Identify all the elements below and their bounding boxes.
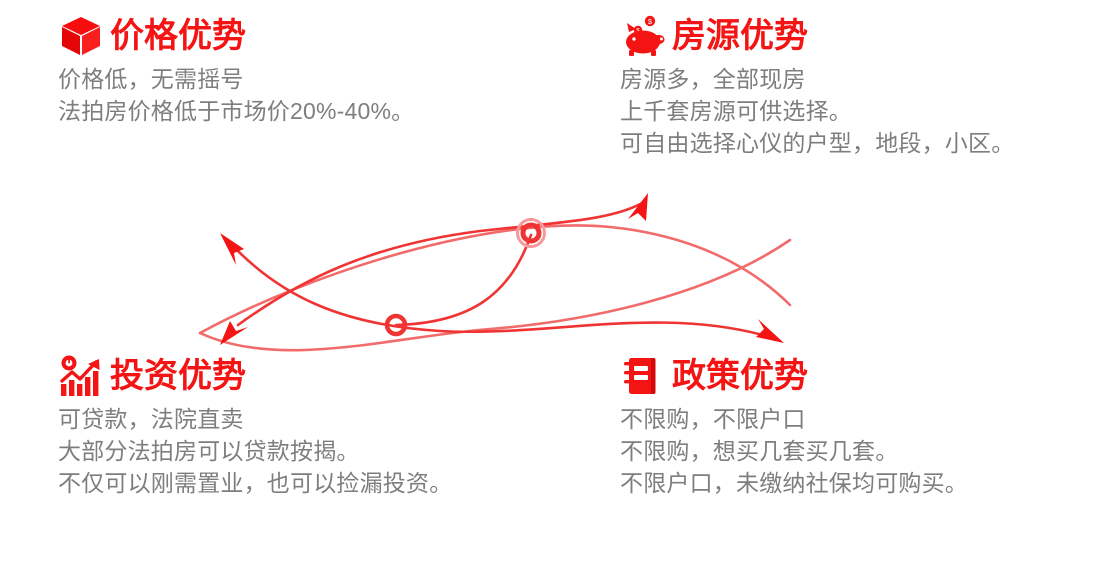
crossing-arrows-graphic xyxy=(190,185,810,360)
infographic-page: 价格优势 价格低，无需摇号 法拍房价格低于市场价20%-40%。 $ $ 房源优… xyxy=(0,0,1099,564)
arrowhead-down-right xyxy=(756,319,784,343)
feature-line: 法拍房价格低于市场价20%-40%。 xyxy=(58,95,414,127)
piggy-bank-icon: $ $ xyxy=(620,14,666,58)
feature-header-policy: 政策优势 xyxy=(620,353,968,399)
upper-arc-path xyxy=(200,225,790,333)
feature-header-price: 价格优势 xyxy=(58,13,414,59)
lower-arc-path xyxy=(200,240,790,350)
growth-chart-icon xyxy=(58,354,104,398)
feature-line: 不仅可以刚需置业，也可以捡漏投资。 xyxy=(58,467,452,499)
feature-line: 房源多，全部现房 xyxy=(620,63,1014,95)
node-circle-outer-ring xyxy=(518,220,545,247)
feature-line: 大部分法拍房可以贷款按揭。 xyxy=(58,435,452,467)
feature-title-price: 价格优势 xyxy=(110,17,246,55)
feature-line: 不限购，不限户口 xyxy=(620,403,968,435)
feature-header-listing: $ $ 房源优势 xyxy=(620,13,1014,59)
feature-line: 价格低，无需摇号 xyxy=(58,63,414,95)
svg-text:$: $ xyxy=(648,19,652,26)
cube-icon xyxy=(58,14,104,58)
feature-block-invest: 投资优势 可贷款，法院直卖 大部分法拍房可以贷款按揭。 不仅可以刚需置业，也可以… xyxy=(58,353,452,499)
ascending-curve-path xyxy=(238,203,642,325)
feature-line: 上千套房源可供选择。 xyxy=(620,95,1014,127)
feature-line: 可自由选择心仪的户型，地段，小区。 xyxy=(620,127,1014,159)
feature-block-price: 价格优势 价格低，无需摇号 法拍房价格低于市场价20%-40%。 xyxy=(58,13,414,127)
feature-line: 可贷款，法院直卖 xyxy=(58,403,452,435)
feature-block-policy: 政策优势 不限购，不限户口 不限购，想买几套买几套。 不限户口，未缴纳社保均可购… xyxy=(620,353,968,499)
arrowhead-down-left xyxy=(220,321,248,345)
feature-lines-price: 价格低，无需摇号 法拍房价格低于市场价20%-40%。 xyxy=(58,63,414,127)
notebook-icon xyxy=(620,354,666,398)
feature-line: 不限户口，未缴纳社保均可购买。 xyxy=(620,467,968,499)
node-circle-small xyxy=(387,316,405,334)
node-circle-large xyxy=(523,225,539,241)
descending-curve-path xyxy=(232,245,770,337)
node-connector-path xyxy=(396,235,531,325)
feature-title-listing: 房源优势 xyxy=(672,17,808,55)
feature-line: 不限购，想买几套买几套。 xyxy=(620,435,968,467)
feature-header-invest: 投资优势 xyxy=(58,353,452,399)
feature-lines-invest: 可贷款，法院直卖 大部分法拍房可以贷款按揭。 不仅可以刚需置业，也可以捡漏投资。 xyxy=(58,403,452,499)
arrowhead-up-right xyxy=(628,193,648,221)
feature-lines-listing: 房源多，全部现房 上千套房源可供选择。 可自由选择心仪的户型，地段，小区。 xyxy=(620,63,1014,159)
arrowhead-up-left xyxy=(220,233,244,265)
feature-title-policy: 政策优势 xyxy=(672,357,808,395)
feature-title-invest: 投资优势 xyxy=(110,357,246,395)
feature-lines-policy: 不限购，不限户口 不限购，想买几套买几套。 不限户口，未缴纳社保均可购买。 xyxy=(620,403,968,499)
feature-block-listing: $ $ 房源优势 房源多，全部现房 上千套房源可供选择。 可自由选择心仪的户型，… xyxy=(620,13,1014,159)
